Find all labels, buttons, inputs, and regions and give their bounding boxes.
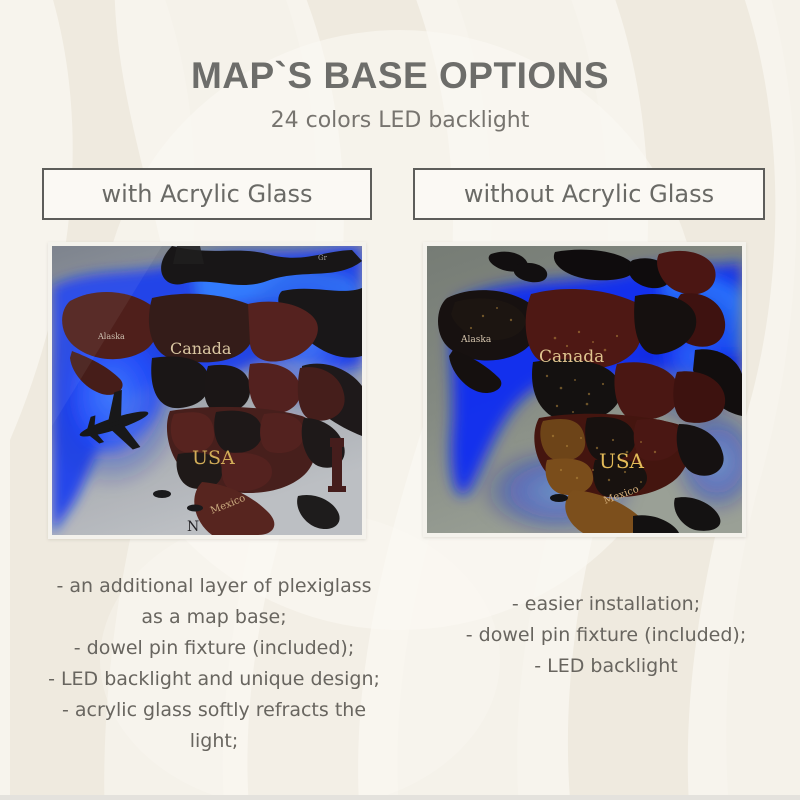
boat-silhouette xyxy=(550,494,568,502)
list-item: - dowel pin fixture (included); xyxy=(421,620,791,651)
map-photo-without-acrylic-glass: Alaska Canada USA Mexico xyxy=(423,242,746,537)
map-photo-with-acrylic-glass: Alaska Canada USA Mexico N Gr xyxy=(48,242,366,539)
list-item: light; xyxy=(24,726,404,757)
list-item: - dowel pin fixture (included); xyxy=(24,633,404,664)
map-label-alaska: Alaska xyxy=(460,335,492,345)
page-title: MAP`S BASE OPTIONS xyxy=(0,0,800,97)
comparison-columns: with Acrylic Glass xyxy=(0,168,800,800)
list-item: - easier installation; xyxy=(421,589,791,620)
feature-list-with-acrylic-glass: - an additional layer of plexiglass as a… xyxy=(24,571,404,757)
bottom-divider xyxy=(0,795,800,800)
list-item: as a map base; xyxy=(24,602,404,633)
list-item: - acrylic glass softly refracts the xyxy=(24,695,404,726)
option-label-without-acrylic-glass: without Acrylic Glass xyxy=(413,168,765,220)
infographic-canvas: MAP`S BASE OPTIONS 24 colors LED backlig… xyxy=(0,0,800,800)
page-subtitle: 24 colors LED backlight xyxy=(0,97,800,133)
feature-list-without-acrylic-glass: - easier installation; - dowel pin fixtu… xyxy=(421,589,791,682)
option-column-with-acrylic-glass: with Acrylic Glass xyxy=(42,168,387,757)
option-label-with-acrylic-glass: with Acrylic Glass xyxy=(42,168,372,220)
map-label-canada: Canada xyxy=(539,347,604,367)
list-item: - LED backlight and unique design; xyxy=(24,664,404,695)
list-item: - LED backlight xyxy=(421,651,791,682)
option-column-without-acrylic-glass: without Acrylic Glass xyxy=(413,168,758,682)
list-item: - an additional layer of plexiglass xyxy=(24,571,404,602)
header: MAP`S BASE OPTIONS 24 colors LED backlig… xyxy=(0,0,800,133)
map-label-usa: USA xyxy=(599,449,645,473)
